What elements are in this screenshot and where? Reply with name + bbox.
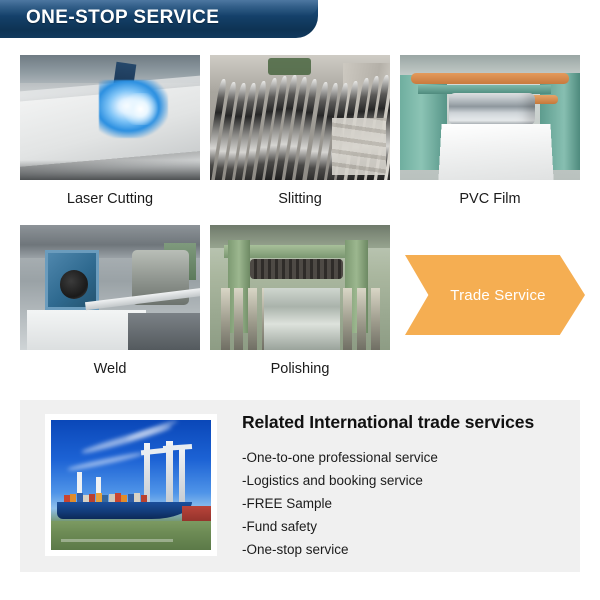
trade-service-chevron[interactable]: Trade Service [405,255,585,335]
process-grid: Laser Cutting Slitting PVC Film [0,55,600,395]
service-list-item: -Logistics and booking service [242,469,568,492]
trade-service-label: Trade Service [450,287,545,304]
weld-icon [20,225,200,350]
process-label: Polishing [210,361,390,377]
process-card-laser-cutting[interactable]: Laser Cutting [20,55,200,207]
process-card-slitting[interactable]: Slitting [210,55,390,207]
page-title: ONE-STOP SERVICE [26,7,219,29]
service-list-item: -One-to-one professional service [242,446,568,469]
slitting-icon [210,55,390,180]
laser-cutting-icon [20,55,200,180]
process-label: Laser Cutting [20,191,200,207]
polishing-icon [210,225,390,350]
process-label: PVC Film [400,191,580,207]
related-services-list: -One-to-one professional service-Logisti… [242,446,568,561]
container-ship-icon [51,420,211,550]
related-services-content: Related International trade services -On… [242,412,568,561]
process-card-polishing[interactable]: Polishing [210,225,390,377]
service-list-item: -FREE Sample [242,492,568,515]
service-list-item: -Fund safety [242,515,568,538]
related-services-panel: Related International trade services -On… [20,400,580,572]
pvc-film-icon [400,55,580,180]
process-label: Slitting [210,191,390,207]
process-card-pvc-film[interactable]: PVC Film [400,55,580,207]
process-row-1: Laser Cutting Slitting PVC Film [0,55,600,225]
process-card-weld[interactable]: Weld [20,225,200,377]
one-stop-service-page: ONE-STOP SERVICE Laser Cutting Slittin [0,0,600,600]
service-list-item: -One-stop service [242,538,568,561]
ship-photo-frame [45,414,217,556]
header-banner: ONE-STOP SERVICE [0,0,340,38]
process-label: Weld [20,361,200,377]
related-services-title: Related International trade services [242,412,568,433]
